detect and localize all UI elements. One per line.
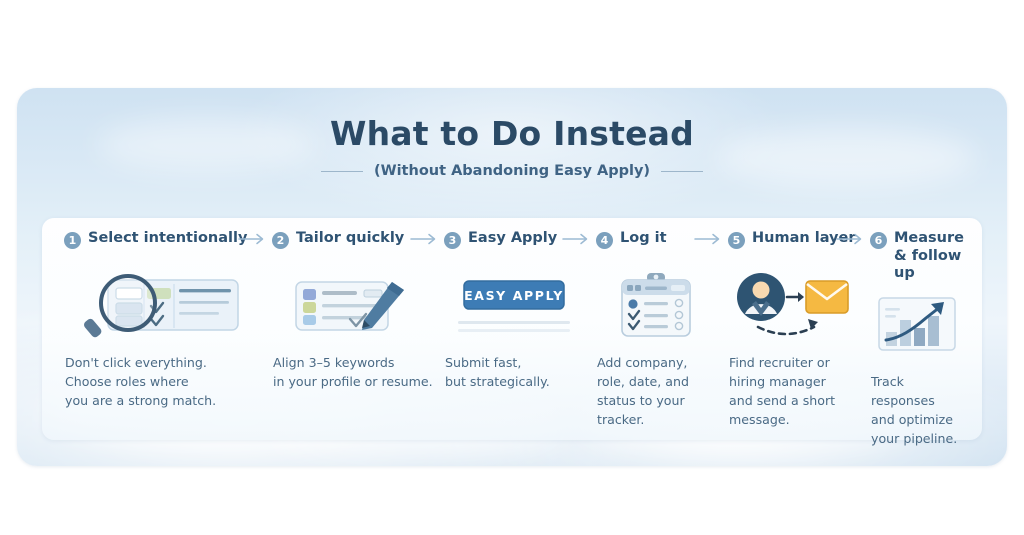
- step-4-body: Add company, role, date, and status to y…: [588, 353, 720, 430]
- subtitle-row: (Without Abandoning Easy Apply): [17, 163, 1007, 179]
- step-4-log-it[interactable]: 4 Log it: [588, 218, 720, 440]
- step-6-number: 6: [870, 232, 887, 249]
- step-3-label: Easy Apply: [468, 230, 557, 248]
- steps-panel: 1 Select intentionally: [42, 218, 982, 440]
- step-6-label: Measure & follow up: [894, 230, 968, 283]
- step-1-label: Select intentionally: [88, 230, 247, 248]
- subtitle-rule-right: [661, 171, 703, 172]
- step-2-number: 2: [272, 232, 289, 249]
- sky-background-card: What to Do Instead (Without Abandoning E…: [17, 88, 1007, 466]
- step-1-select-intentionally[interactable]: 1 Select intentionally: [56, 218, 264, 440]
- steps-row: 1 Select intentionally: [42, 218, 982, 440]
- step-2-tailor-quickly[interactable]: 2 Tailor quickly: [264, 218, 436, 440]
- step-2-body: Align 3–5 keywords in your profile or re…: [264, 353, 436, 391]
- step-3-body: Submit fast, but strategically.: [436, 353, 588, 391]
- person-envelope-icon: [720, 271, 862, 343]
- step-5-body: Find recruiter or hiring manager and sen…: [720, 353, 862, 430]
- step-1-number: 1: [64, 232, 81, 249]
- header: What to Do Instead (Without Abandoning E…: [17, 116, 1007, 179]
- page-subtitle: (Without Abandoning Easy Apply): [374, 163, 650, 179]
- document-pen-icon: [264, 271, 436, 343]
- magnifier-checklist-icon: [56, 271, 264, 343]
- step-4-label: Log it: [620, 230, 667, 248]
- growth-chart-icon: [862, 290, 968, 362]
- easy-apply-button-text: EASY APPLY: [464, 288, 564, 303]
- step-3-number: 3: [444, 232, 461, 249]
- step-5-number: 5: [728, 232, 745, 249]
- step-1-body: Don't click everything. Choose roles whe…: [56, 353, 264, 410]
- step-1-header: 1 Select intentionally: [56, 230, 264, 264]
- clipboard-tracker-icon: [588, 271, 720, 343]
- step-4-number: 4: [596, 232, 613, 249]
- infographic-canvas: What to Do Instead (Without Abandoning E…: [0, 0, 1024, 535]
- step-3-easy-apply[interactable]: 3 Easy Apply EASY APPLY: [436, 218, 588, 440]
- step-5-human-layer[interactable]: 5 Human layer: [720, 218, 862, 440]
- easy-apply-button-icon[interactable]: EASY APPLY: [436, 271, 588, 343]
- step-2-label: Tailor quickly: [296, 230, 404, 248]
- page-title: What to Do Instead: [17, 116, 1007, 152]
- subtitle-rule-left: [321, 171, 363, 172]
- step-6-header: 6 Measure & follow up: [862, 230, 968, 283]
- step-6-measure-follow-up[interactable]: 6 Measure & follow up: [862, 218, 968, 440]
- step-6-body: Track responses and optimize your pipeli…: [862, 372, 968, 449]
